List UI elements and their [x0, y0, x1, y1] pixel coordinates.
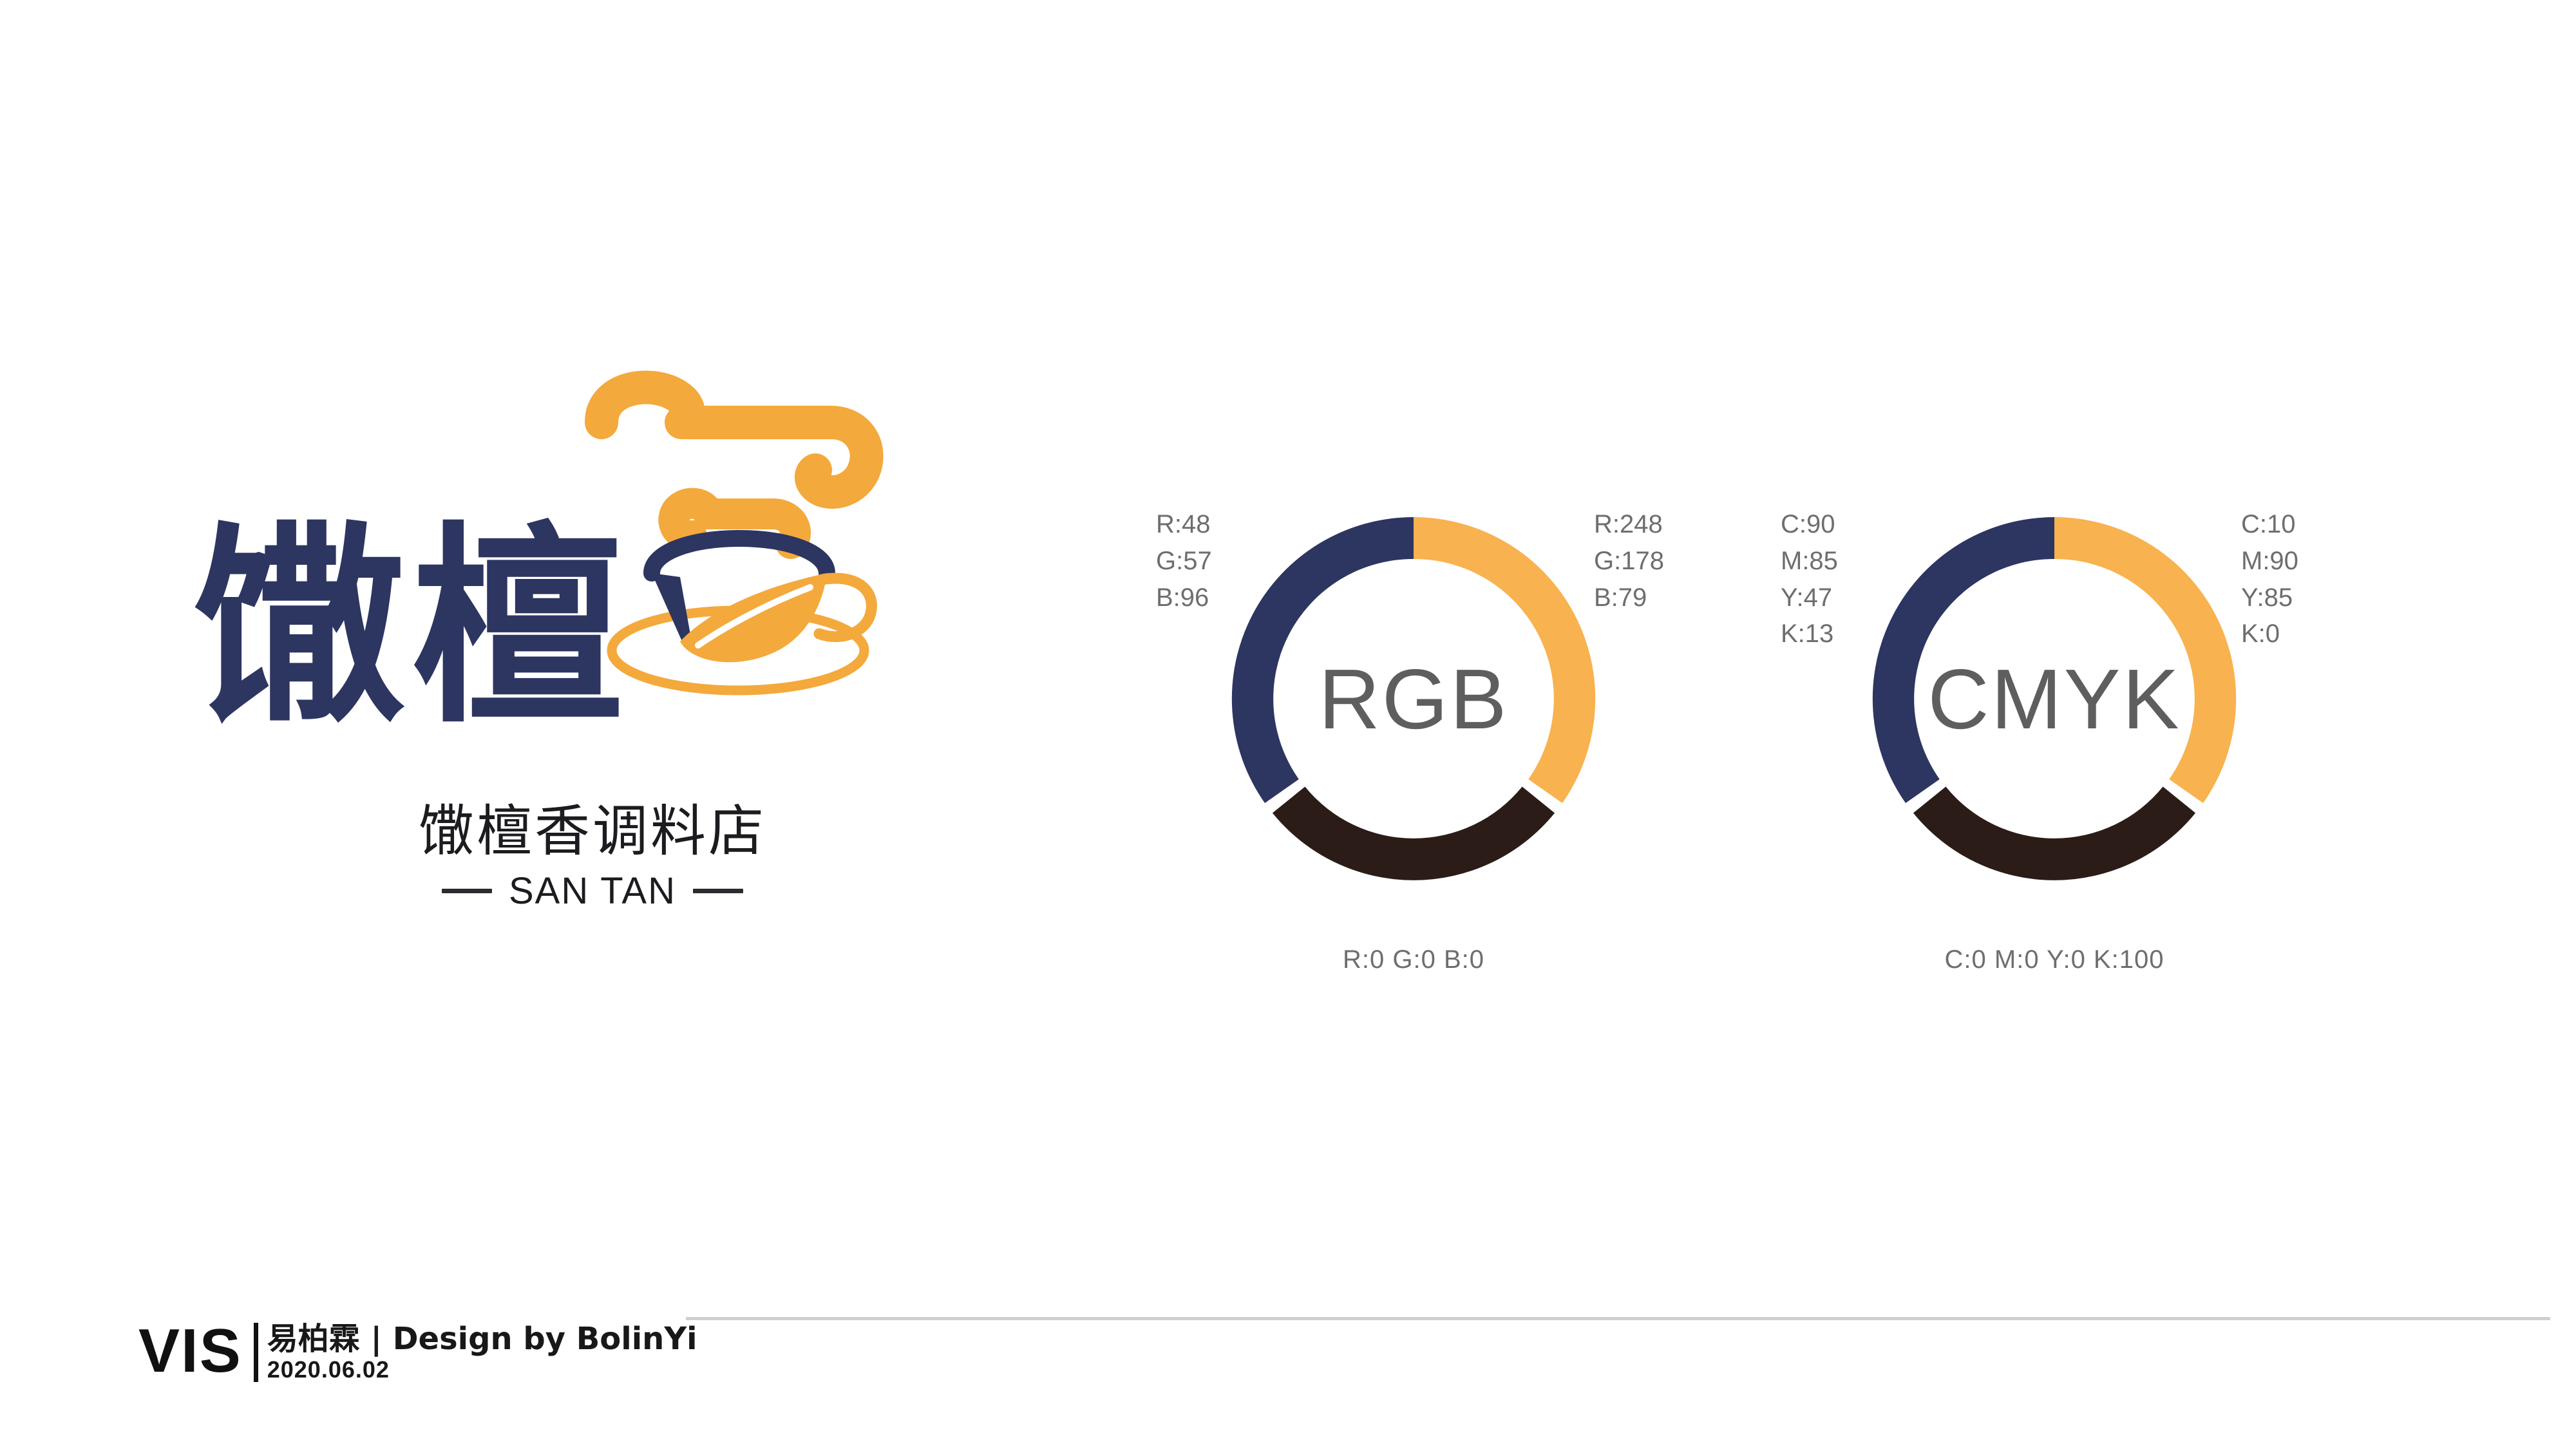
footer-separator-bar — [254, 1323, 258, 1382]
tagline-rule-right — [693, 889, 743, 893]
rgb-navy-value-label: R:48 G:57 B:96 — [1156, 506, 1212, 616]
footer-vis-label: VIS — [138, 1320, 242, 1382]
footer: VIS 易柏霖 | Design by BolinYi 2020.06.02 — [138, 1320, 697, 1383]
rgb-black-value-label: R:0 G:0 B:0 — [1092, 942, 1736, 978]
logo-tagline: SAN TAN — [509, 869, 676, 913]
cmyk-orange-value-label: C:10 M:90 Y:85 K:0 — [2241, 506, 2298, 652]
footer-divider — [686, 1317, 2550, 1320]
logo-tagline-row: SAN TAN — [348, 869, 837, 913]
brand-logo-lockup: 馓檀 馓檀香调料店 SAN TAN — [193, 361, 914, 1005]
tagline-rule-left — [442, 889, 492, 893]
rgb-color-donut-chart: RGB R:48 G:57 B:96 R:248 G:178 B:79 R:0 … — [1092, 451, 1736, 992]
rgb-orange-value-label: R:248 G:178 B:79 — [1594, 506, 1664, 616]
logo-wordmark: 馓檀 — [193, 522, 837, 753]
footer-text-column: 易柏霖 | Design by BolinYi 2020.06.02 — [267, 1320, 697, 1383]
footer-date: 2020.06.02 — [267, 1356, 697, 1383]
rgb-donut-ring — [1201, 486, 1626, 911]
logo-subtitle: 馓檀香调料店 — [348, 786, 837, 866]
footer-credit: 易柏霖 | Design by BolinYi — [267, 1323, 697, 1356]
cmyk-navy-value-label: C:90 M:85 Y:47 K:13 — [1781, 506, 1838, 652]
cmyk-color-donut-chart: CMYK C:90 M:85 Y:47 K:13 C:10 M:90 Y:85 … — [1732, 451, 2376, 992]
cmyk-black-value-label: C:0 M:0 Y:0 K:100 — [1732, 942, 2376, 978]
cmyk-donut-ring — [1842, 486, 2267, 911]
